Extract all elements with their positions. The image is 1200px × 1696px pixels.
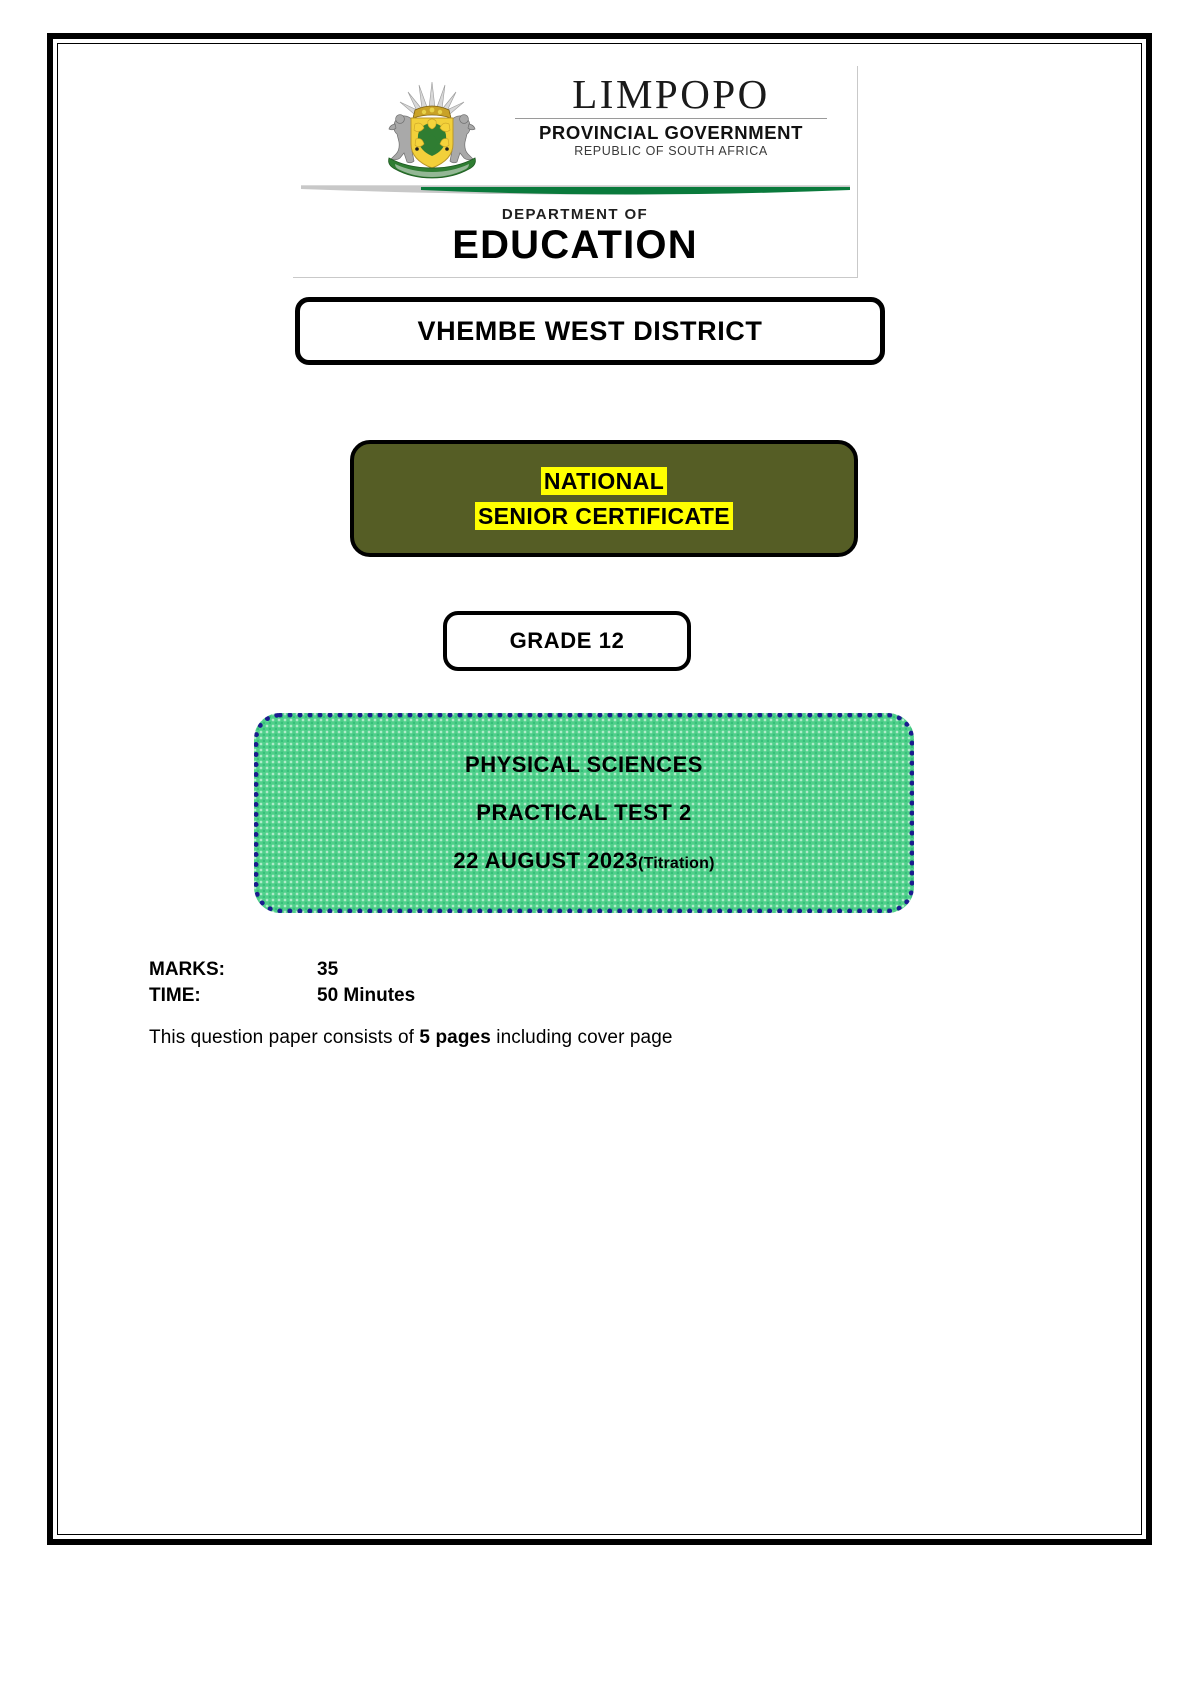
exam-meta: MARKS: 35 TIME: 50 Minutes (149, 957, 415, 1009)
page-border: LIMPOPO PROVINCIAL GOVERNMENT REPUBLIC O… (47, 33, 1152, 1545)
certificate-line-2-wrap: SENIOR CERTIFICATE (475, 503, 733, 530)
republic-label: REPUBLIC OF SOUTH AFRICA (511, 144, 831, 158)
certificate-senior-label: SENIOR CERTIFICATE (475, 502, 733, 530)
note-suffix: including cover page (491, 1027, 673, 1048)
time-row: TIME: 50 Minutes (149, 983, 415, 1009)
note-pages: 5 pages (419, 1027, 490, 1048)
department-prefix: DEPARTMENT OF (293, 206, 857, 223)
letterhead-swoosh (301, 183, 850, 199)
subject-date-suffix: (Titration) (638, 855, 715, 872)
certificate-national-label: NATIONAL (541, 467, 667, 495)
time-label: TIME: (149, 983, 317, 1009)
subject-name: PHYSICAL SCIENCES (465, 752, 703, 778)
subject-date: 22 AUGUST 2023 (453, 848, 638, 873)
limpopo-wordmark: LIMPOPO PROVINCIAL GOVERNMENT REPUBLIC O… (511, 74, 831, 158)
certificate-box: NATIONAL SENIOR CERTIFICATE (350, 440, 858, 557)
marks-label: MARKS: (149, 957, 317, 983)
limpopo-coat-of-arms-icon (371, 76, 493, 180)
page-count-note: This question paper consists of 5 pages … (149, 1027, 673, 1049)
note-prefix: This question paper consists of (149, 1027, 419, 1048)
subject-date-row: 22 AUGUST 2023(Titration) (453, 848, 714, 874)
province-name: LIMPOPO (511, 74, 831, 115)
grade-label: GRADE 12 (510, 628, 625, 654)
letterhead: LIMPOPO PROVINCIAL GOVERNMENT REPUBLIC O… (293, 66, 858, 278)
district-label: VHEMBE WEST DISTRICT (417, 316, 762, 347)
provincial-government-label: PROVINCIAL GOVERNMENT (511, 123, 831, 142)
subject-test-name: PRACTICAL TEST 2 (476, 800, 691, 826)
marks-value: 35 (317, 957, 338, 983)
subject-box: PHYSICAL SCIENCES PRACTICAL TEST 2 22 AU… (254, 713, 914, 913)
department-name: EDUCATION (293, 224, 857, 266)
page-content: LIMPOPO PROVINCIAL GOVERNMENT REPUBLIC O… (53, 39, 1158, 1551)
time-value: 50 Minutes (317, 983, 415, 1009)
wordmark-divider (515, 118, 827, 119)
letterhead-top: LIMPOPO PROVINCIAL GOVERNMENT REPUBLIC O… (293, 66, 857, 184)
certificate-line-1-wrap: NATIONAL (541, 468, 667, 495)
marks-row: MARKS: 35 (149, 957, 415, 983)
grade-box: GRADE 12 (443, 611, 691, 671)
district-box: VHEMBE WEST DISTRICT (295, 297, 885, 365)
